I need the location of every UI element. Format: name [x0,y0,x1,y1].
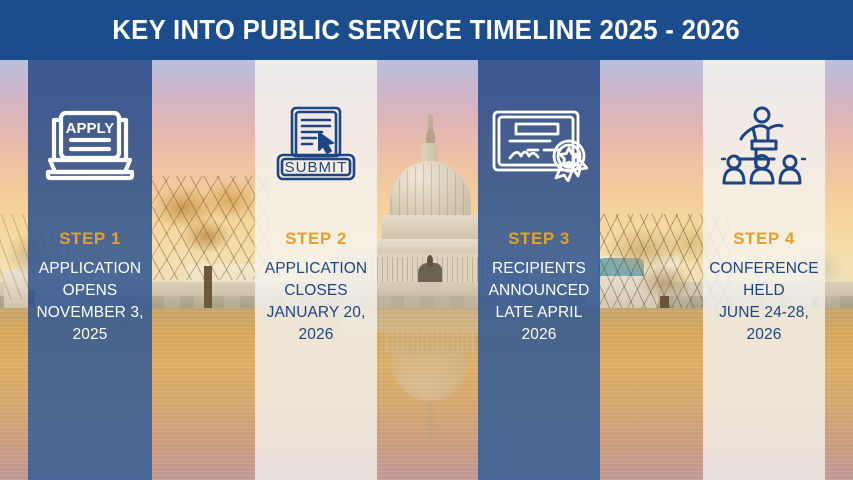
header-banner: KEY INTO PUBLIC SERVICE TIMELINE 2025 - … [0,0,853,60]
timeline-step-4[interactable]: STEP 4 CONFERENCE HELD JUNE 24-28, 2026 [703,60,825,480]
svg-text:APPLY: APPLY [66,120,115,137]
step-label: STEP 4 [733,230,795,247]
tree-branches [150,176,270,280]
step-description: CONFERENCE HELD JUNE 24-28, 2026 [709,258,819,346]
tree-left-autumn [150,170,270,320]
svg-text:SUBMIT: SUBMIT [285,159,348,176]
certificate-award-seal-icon [478,60,600,230]
infographic-root: KEY INTO PUBLIC SERVICE TIMELINE 2025 - … [0,0,853,480]
step-label: STEP 1 [59,230,121,247]
speaker-podium-audience-icon [703,60,825,230]
capitol-colonnade [383,216,477,240]
step-label: STEP 3 [508,230,570,247]
step-description: APPLICATION OPENS NOVEMBER 3, 2025 [36,258,143,346]
step-label: STEP 2 [285,230,347,247]
laptop-apply-icon: APPLY [28,60,152,230]
timeline-step-3[interactable]: STEP 3 RECIPIENTS ANNOUNCED LATE APRIL 2… [478,60,600,480]
timeline-step-2[interactable]: SUBMIT STEP 2 APPLICATION CLOSES JANUARY… [255,60,377,480]
timeline-step-1[interactable]: APPLY STEP 1 APPLICATION OPENS NOVEMBER … [28,60,152,480]
grant-memorial-rider [427,255,433,267]
step-description: RECIPIENTS ANNOUNCED LATE APRIL 2026 [489,258,590,346]
page-title: KEY INTO PUBLIC SERVICE TIMELINE 2025 - … [113,14,741,46]
document-submit-cursor-icon: SUBMIT [255,60,377,230]
step-description: APPLICATION CLOSES JANUARY 20, 2026 [265,258,367,346]
